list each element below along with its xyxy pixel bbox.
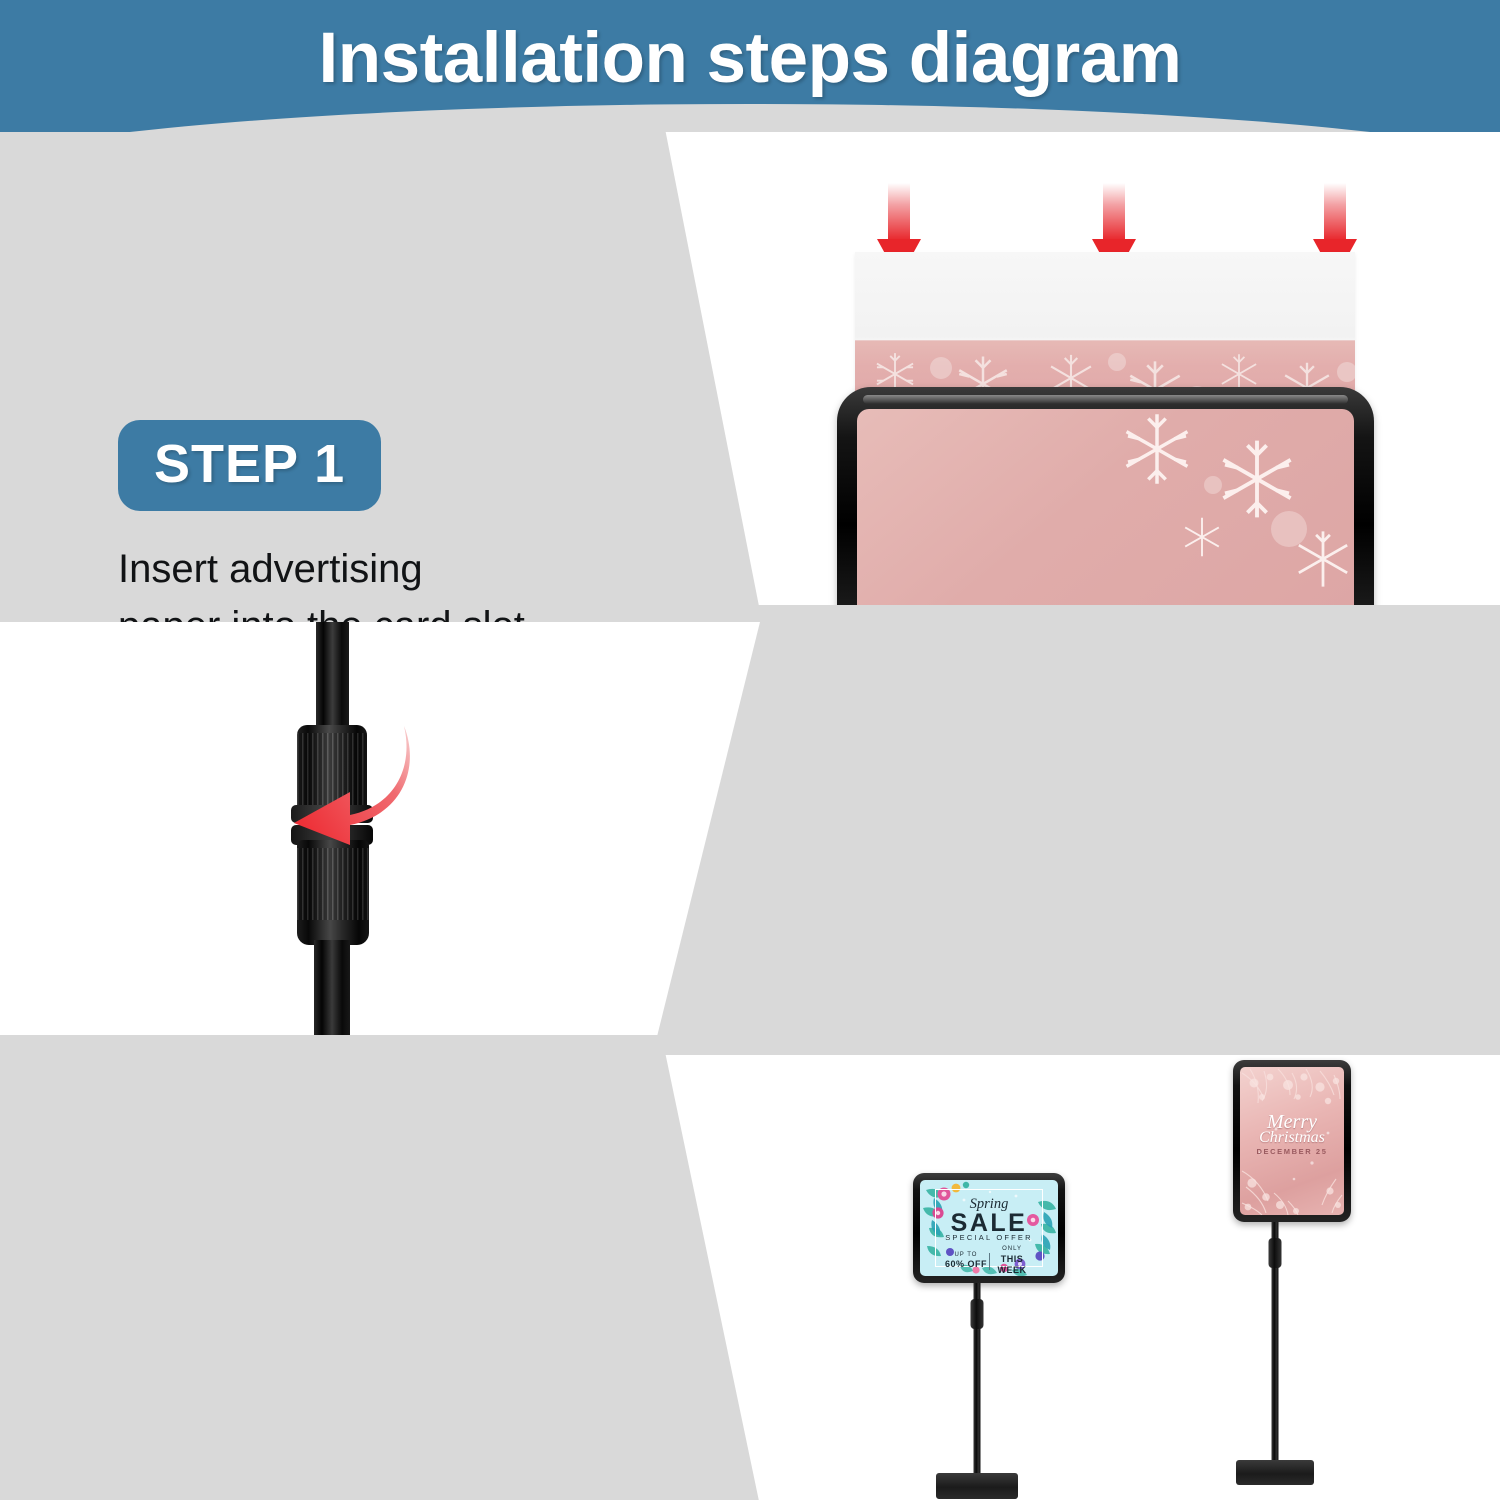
lower-knob [297,840,369,945]
spring-sign-frame: Spring SALE SPECIAL OFFER UP TO 60% OFF [913,1173,1065,1283]
spring-poster: Spring SALE SPECIAL OFFER UP TO 60% OFF [920,1180,1058,1276]
step-1-row: STEP 1 Insert advertising paper into the… [0,132,1500,605]
rotate-arrow-icon [258,722,418,847]
step-2-illustration-panel [0,622,760,1035]
frame-poster-area [857,409,1354,605]
step-1-text-block: STEP 1 Insert advertising paper into the… [118,420,525,655]
stand-base [1236,1460,1314,1485]
sign-stand-spring: Spring SALE SPECIAL OFFER UP TO 60% OFF [892,1173,1062,1493]
stand-knob [1269,1238,1282,1268]
christmas-sign-frame: Merry Christmas DECEMBER 25 [1233,1060,1351,1222]
spring-deal-right: ONLY THIS WEEK [990,1246,1035,1276]
deal-left-line1: UP TO [943,1252,988,1260]
deal-right-line1: ONLY [990,1246,1035,1254]
frame-snowflakes-svg [857,409,1354,605]
pole-lower-segment [314,940,350,1035]
step-3-row: Spring SALE SPECIAL OFFER UP TO 60% OFF [0,1055,1500,1500]
stand-knob [971,1299,984,1329]
spring-subtitle: SPECIAL OFFER [920,1233,1058,1242]
christmas-poster: Merry Christmas DECEMBER 25 [1240,1067,1344,1215]
stand-base [936,1473,1018,1499]
infographic-page: Installation steps diagram [0,0,1500,1500]
spring-deals-row: UP TO 60% OFF ONLY THIS WEEK [943,1246,1034,1276]
step-1-illustration-panel [630,132,1500,605]
christmas-line2: Christmas [1240,1129,1344,1147]
spring-deal-left: UP TO 60% OFF [943,1252,988,1271]
deal-right-line2: THIS WEEK [990,1254,1035,1276]
step-2-row: STEP 2 Connect the knob to snap [0,622,1500,1035]
step-1-badge: STEP 1 [118,420,381,511]
christmas-date: DECEMBER 25 [1240,1147,1344,1156]
page-title: Installation steps diagram [0,18,1500,99]
header-banner: Installation steps diagram [0,0,1500,132]
sign-stand-christmas: Merry Christmas DECEMBER 25 [1200,1060,1350,1495]
sign-frame [837,387,1374,605]
step-3-illustration-panel: Spring SALE SPECIAL OFFER UP TO 60% OFF [630,1055,1500,1500]
header-curve-decoration [0,104,1500,132]
deal-left-line2: 60% OFF [943,1259,988,1270]
